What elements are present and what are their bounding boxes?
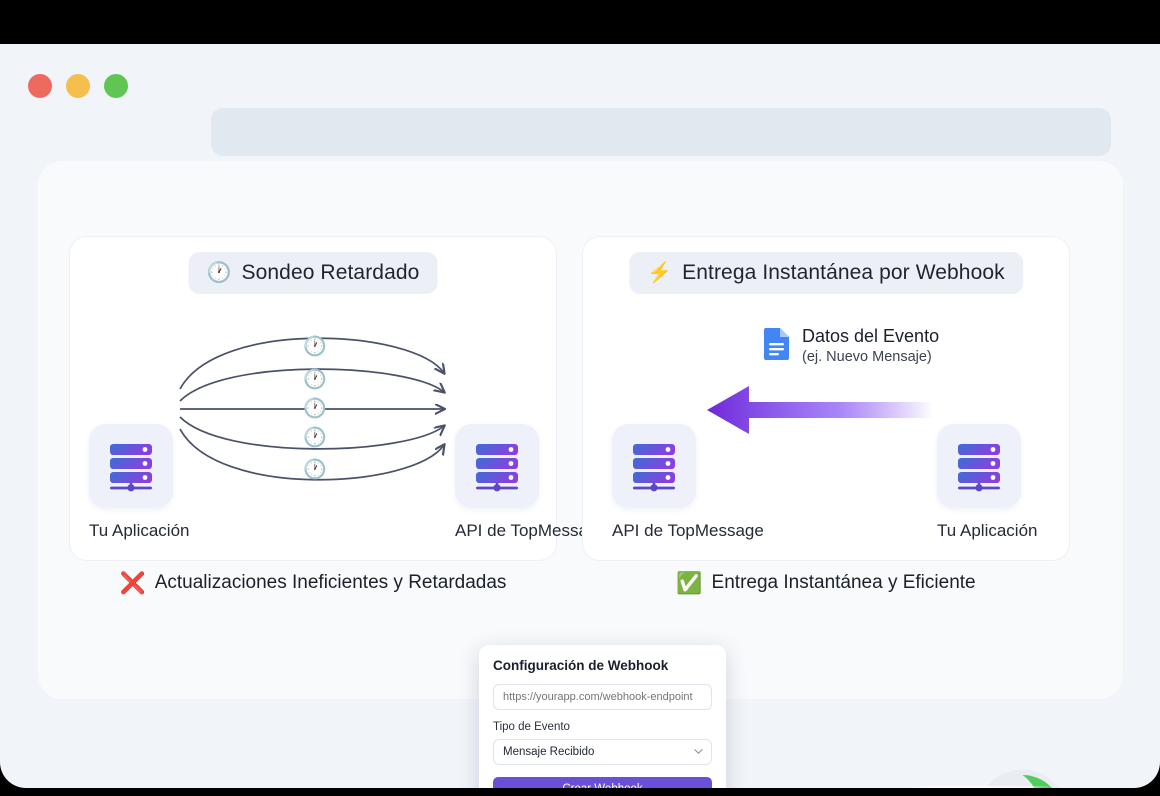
browser-titlebar (0, 44, 1160, 134)
clock-icon: 🕐 (303, 371, 327, 390)
node-label: API de TopMessage (455, 521, 539, 541)
polling-card-header: 🕐 Sondeo Retardado (189, 252, 438, 294)
node-tu-aplicacion: Tu Aplicación (937, 424, 1021, 541)
polling-clock-markers: 🕐 🕐 🕐 🕐 🕐 (178, 317, 458, 492)
server-icon (612, 424, 696, 508)
document-icon (763, 326, 791, 365)
modal-title: Configuración de Webhook (493, 658, 712, 673)
whatsapp-icon (975, 767, 1070, 788)
browser-window: 🕐 Sondeo Retardado (0, 44, 1160, 788)
webhook-status: ✅ Entrega Instantánea y Eficiente (676, 572, 975, 594)
clock-icon: 🕐 (303, 461, 327, 480)
chevron-down-icon (694, 747, 703, 756)
server-icon (455, 424, 539, 508)
create-webhook-button[interactable]: Crear Webhook (493, 777, 712, 788)
window-controls (28, 74, 128, 98)
node-api-topmessage: API de TopMessage (455, 424, 539, 541)
event-note-title: Datos del Evento (802, 325, 939, 348)
maximize-window-button[interactable] (104, 74, 128, 98)
clock-icon: 🕐 (303, 400, 327, 419)
polling-comparison-card: 🕐 Sondeo Retardado (69, 236, 557, 561)
node-label: Tu Aplicación (89, 521, 173, 541)
node-api-topmessage: API de TopMessage (612, 424, 696, 541)
node-label: Tu Aplicación (937, 521, 1021, 541)
cross-mark-icon: ❌ (120, 573, 146, 594)
lightning-icon: ⚡ (647, 263, 672, 283)
polling-card-title: Sondeo Retardado (242, 261, 420, 285)
server-icon (937, 424, 1021, 508)
webhook-comparison-card: ⚡ Entrega Instantánea por Webhook (582, 236, 1070, 561)
webhook-card-header: ⚡ Entrega Instantánea por Webhook (629, 252, 1023, 294)
check-mark-icon: ✅ (676, 573, 702, 594)
polling-status-label: Actualizaciones Ineficientes y Retardada… (155, 572, 507, 594)
polling-status: ❌ Actualizaciones Ineficientes y Retarda… (120, 572, 507, 594)
clock-icon: 🕐 (303, 338, 327, 357)
content-stage: 🕐 Sondeo Retardado (38, 161, 1123, 699)
event-note-subtitle: (ej. Nuevo Mensaje) (802, 348, 939, 366)
webhook-card-title: Entrega Instantánea por Webhook (682, 261, 1005, 285)
minimize-window-button[interactable] (66, 74, 90, 98)
webhook-url-input[interactable] (493, 684, 712, 710)
node-tu-aplicacion: Tu Aplicación (89, 424, 173, 541)
node-label: API de TopMessage (612, 521, 696, 541)
clock-icon: 🕐 (303, 429, 327, 448)
close-window-button[interactable] (28, 74, 52, 98)
event-type-select[interactable]: Mensaje Recibido (493, 739, 712, 765)
clock-icon: 🕐 (207, 263, 232, 283)
webhook-push-arrow (703, 382, 933, 438)
server-icon (89, 424, 173, 508)
event-type-selected-value: Mensaje Recibido (503, 746, 594, 758)
webhook-status-label: Entrega Instantánea y Eficiente (712, 572, 976, 594)
address-bar[interactable] (211, 108, 1111, 156)
event-payload-note: Datos del Evento (ej. Nuevo Mensaje) (763, 325, 939, 366)
event-type-label: Tipo de Evento (493, 721, 712, 733)
webhook-config-modal: Configuración de Webhook Tipo de Evento … (479, 645, 726, 788)
screenshot-root: 🕐 Sondeo Retardado (0, 0, 1160, 796)
